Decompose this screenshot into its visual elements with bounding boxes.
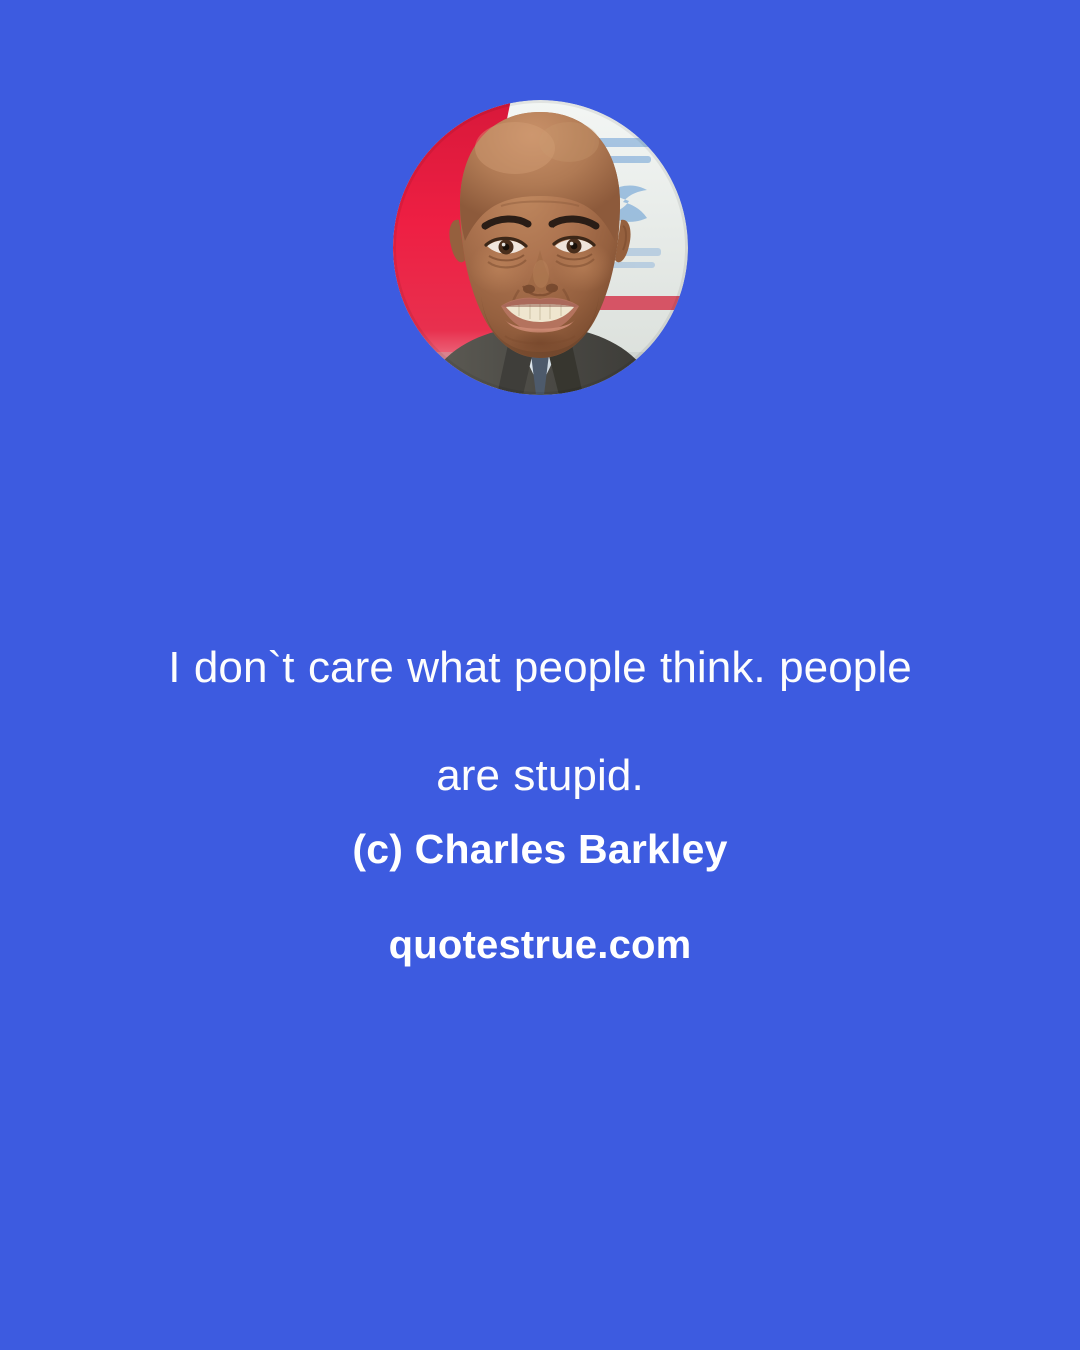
avatar — [393, 100, 688, 395]
quote-line-2: are stupid. — [70, 722, 1010, 830]
quote-block: I don`t care what people think. people a… — [70, 614, 1010, 830]
source-website[interactable]: quotestrue.com — [0, 923, 1080, 968]
quote-line-1: I don`t care what people think. people — [70, 614, 1010, 722]
portrait-avatar — [393, 100, 688, 395]
quote-attribution: (c) Charles Barkley — [0, 826, 1080, 873]
quote-card: I don`t care what people think. people a… — [0, 0, 1080, 1350]
